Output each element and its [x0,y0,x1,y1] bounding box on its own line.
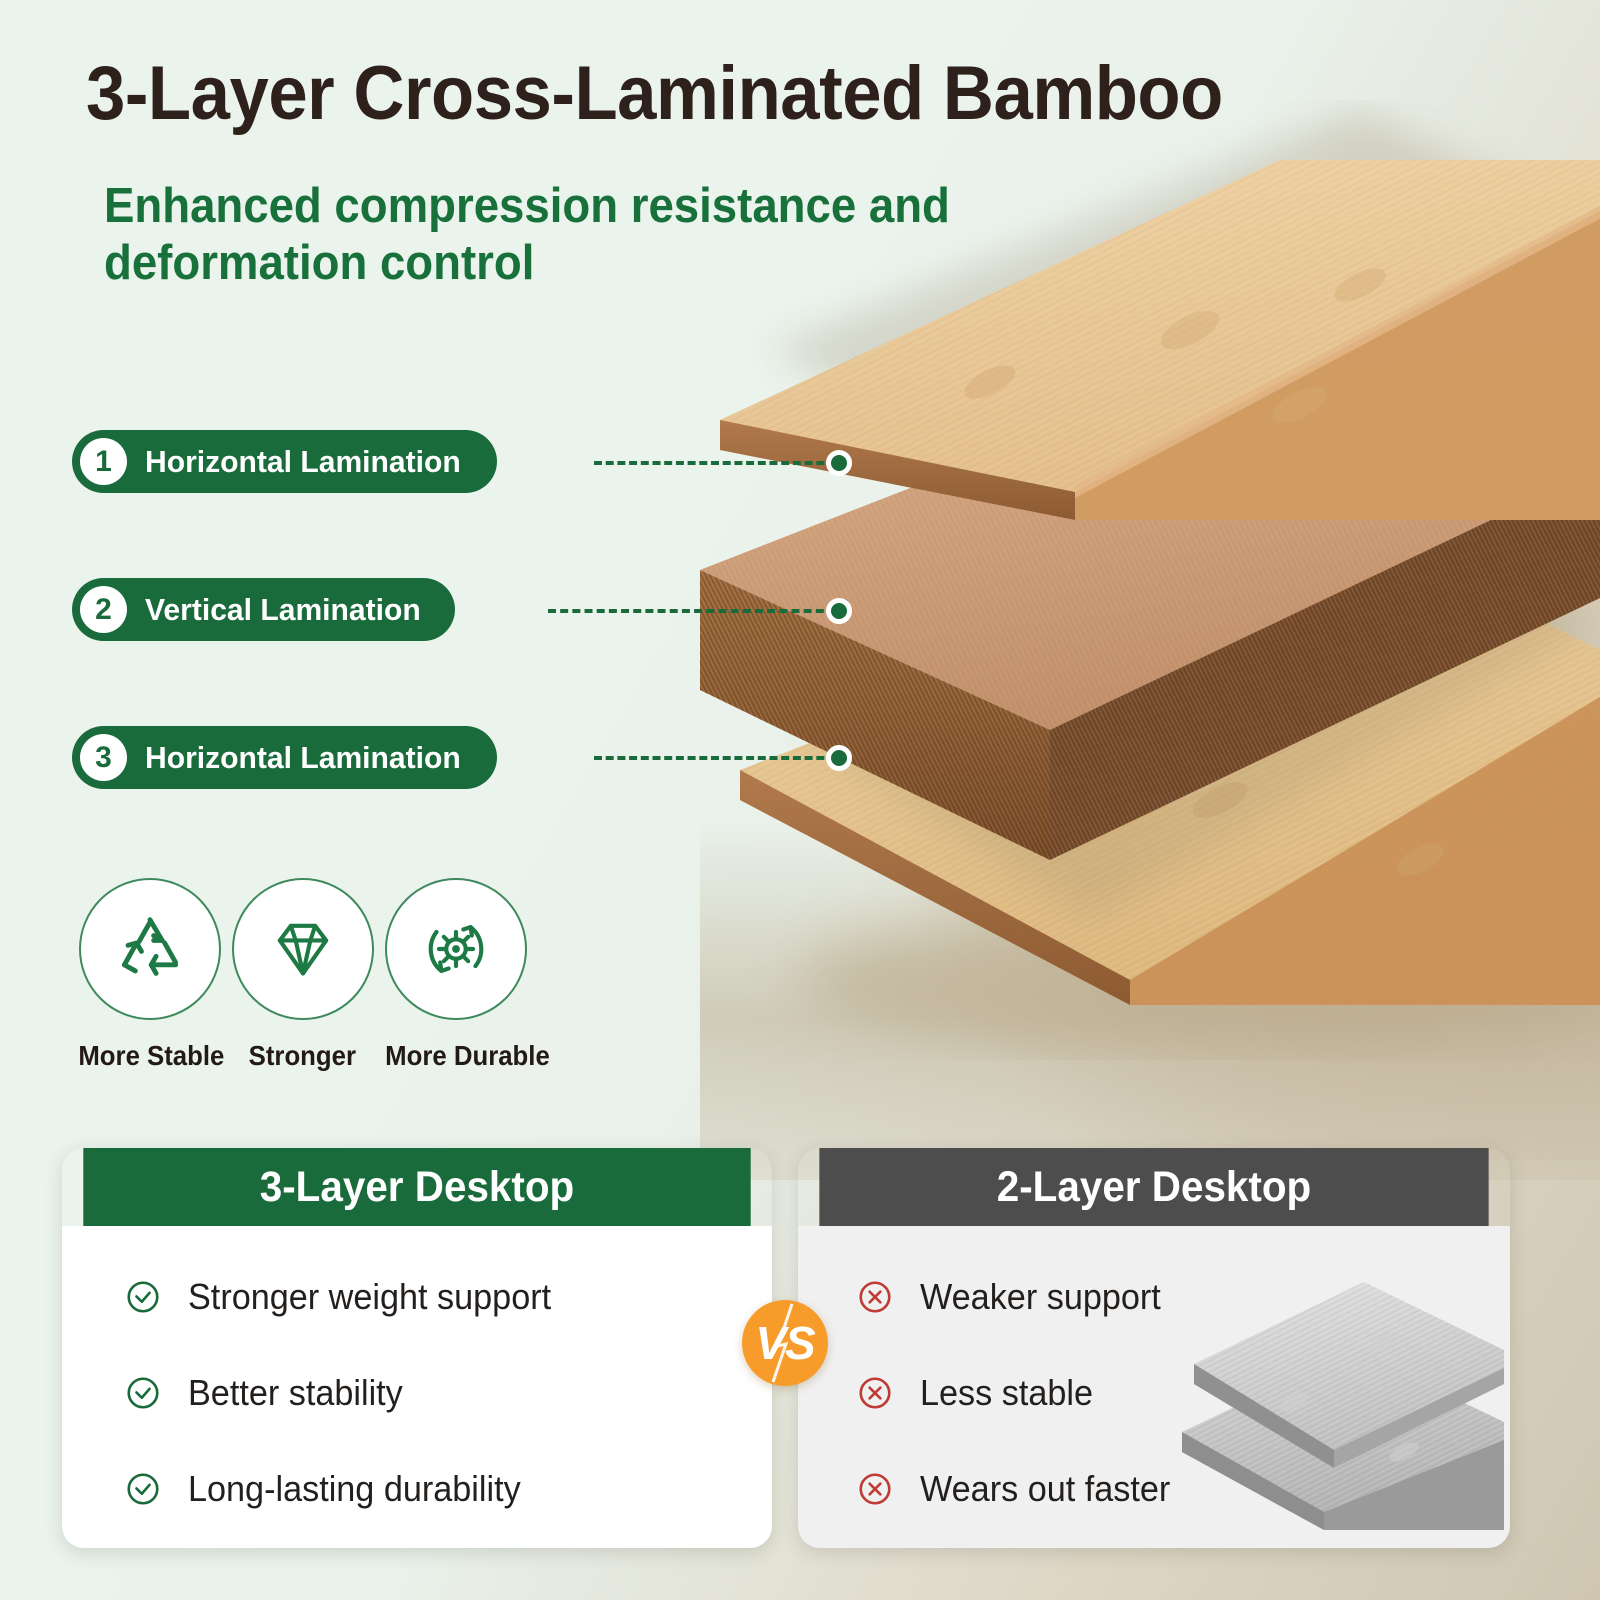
layer-callout-1[interactable]: 1 Horizontal Lamination [72,430,497,493]
card-title-2-layer: 2-Layer Desktop [819,1148,1488,1226]
layer-number-1: 1 [80,438,127,485]
cross-icon [856,1470,894,1508]
layer-callout-2[interactable]: 2 Vertical Lamination [72,578,455,641]
feature-stronger: Stronger [225,878,380,1072]
comparison-card-2-layer: 2-Layer Desktop Weaker support Less stab… [798,1148,1510,1548]
connector-line-3 [594,756,836,760]
connector-line-1 [594,461,836,465]
layer-label-1: Horizontal Lamination [145,444,461,480]
page-subtitle: Enhanced compression resistance and defo… [104,178,1090,292]
check-icon [124,1374,162,1412]
feature-icon-row: More Stable Stronger [72,878,712,1093]
feature-label-more-stable: More Stable [78,1040,224,1072]
feature-more-stable: More Stable [72,878,227,1072]
feature-label-more-durable: More Durable [385,1040,550,1072]
card-body-3-layer: Stronger weight support Better stability… [62,1226,772,1548]
infographic-page: 3-Layer Cross-Laminated Bamboo Enhanced … [0,0,1600,1600]
list-item-label: Wears out faster [920,1468,1170,1510]
list-item-label: Stronger weight support [188,1276,551,1318]
connector-dot-3 [826,745,852,771]
check-icon [124,1470,162,1508]
cross-icon [856,1374,894,1412]
layer-label-3: Horizontal Lamination [145,740,461,776]
connector-line-2 [548,609,836,613]
two-layer-board-image [1174,1272,1504,1542]
diamond-icon [232,878,374,1020]
recycle-icon [79,878,221,1020]
vs-badge: VS [742,1300,828,1386]
connector-dot-2 [826,598,852,624]
layer-label-2: Vertical Lamination [145,592,421,628]
durability-icon [385,878,527,1020]
layer-number-2: 2 [80,586,127,633]
connector-dot-1 [826,450,852,476]
list-item-label: Less stable [920,1372,1093,1414]
feature-more-durable: More Durable [378,878,533,1072]
card-title-3-layer: 3-Layer Desktop [83,1148,750,1226]
list-item: Stronger weight support [124,1266,772,1328]
feature-label-stronger: Stronger [249,1040,356,1072]
list-item: Long-lasting durability [124,1458,772,1520]
list-item-label: Long-lasting durability [188,1468,521,1510]
comparison-card-3-layer: 3-Layer Desktop Stronger weight support … [62,1148,772,1548]
page-title: 3-Layer Cross-Laminated Bamboo [86,52,1323,136]
list-item-label: Weaker support [920,1276,1161,1318]
list-item: Better stability [124,1362,772,1424]
list-item-label: Better stability [188,1372,403,1414]
layer-number-3: 3 [80,734,127,781]
layer-callout-3[interactable]: 3 Horizontal Lamination [72,726,497,789]
cross-icon [856,1278,894,1316]
check-icon [124,1278,162,1316]
